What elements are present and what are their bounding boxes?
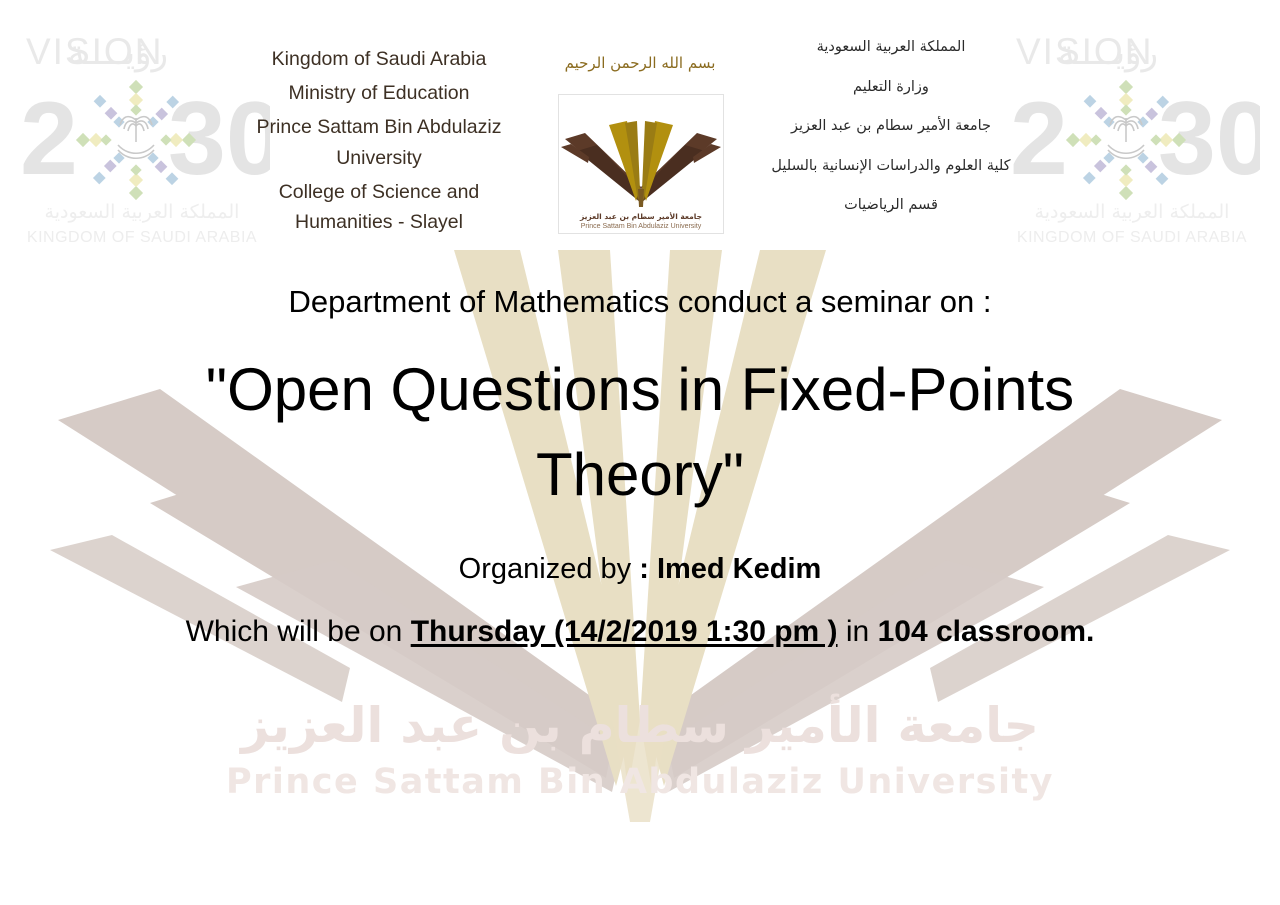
university-logo-card: جامعة الأمير سطام بن عبد العزيز Prince S… [558, 94, 724, 234]
svg-text:Prince Sattam Bin Abdulaziz Un: Prince Sattam Bin Abdulaziz University [581, 223, 702, 230]
header-ar-line-university: جامعة الأمير سطام بن عبد العزيز [760, 119, 1022, 134]
seminar-title: "Open Questions in Fixed-Points Theory" [50, 347, 1230, 517]
letterhead-header: Kingdom of Saudi Arabia Ministry of Educ… [0, 0, 1280, 250]
header-ar-line-kingdom: المملكة العربية السعودية [760, 40, 1022, 55]
seminar-intro-line: Department of Mathematics conduct a semi… [50, 286, 1230, 317]
header-line-ministry: Ministry of Education [246, 78, 512, 108]
header-line-university: Prince Sattam Bin Abdulaziz University [246, 112, 512, 172]
bottom-watermark-english: Prince Sattam Bin Abdulaziz University [0, 763, 1280, 802]
schedule-datetime: Thursday (14/2/2019 1:30 pm ) [411, 615, 838, 648]
header-line-college: College of Science and Humanities - Slay… [246, 177, 512, 237]
header-ar-line-college: كلية العلوم والدراسات الإنسانية بالسليل [760, 159, 1022, 174]
university-logo: بسم الله الرحمن الرحيم [548, 56, 732, 232]
bottom-wordmark-watermark: جامعة الأمير سطام بن عبد العزيز Prince S… [0, 700, 1280, 802]
room-word: classroom. [928, 615, 1095, 648]
basmala-calligraphy: بسم الله الرحمن الرحيم [548, 56, 732, 71]
organizer-name: : Imed Kedim [631, 553, 821, 585]
organizer-label: Organized by [459, 553, 632, 585]
header-ar-line-department: قسم الرياضيات [760, 198, 1022, 213]
header-ar-line-ministry: وزارة التعليم [760, 80, 1022, 95]
room-number: 104 [878, 615, 928, 648]
announcement-body: Department of Mathematics conduct a semi… [50, 258, 1230, 659]
schedule-line: Which will be on Thursday (14/2/2019 1:3… [50, 606, 1230, 659]
schedule-prefix: Which will be on [186, 615, 411, 648]
header-english-block: Kingdom of Saudi Arabia Ministry of Educ… [246, 44, 512, 241]
svg-text:جامعة الأمير سطام بن عبد العزي: جامعة الأمير سطام بن عبد العزيز [579, 212, 702, 221]
organizer-line: Organized by : Imed Kedim [50, 555, 1230, 584]
flyer-page: جامعة الأمير سطام بن عبد العزيز Prince S… [0, 0, 1280, 905]
schedule-middle: in [838, 615, 878, 648]
bottom-watermark-arabic: جامعة الأمير سطام بن عبد العزيز [0, 700, 1280, 751]
header-arabic-block: المملكة العربية السعودية وزارة التعليم ج… [760, 40, 1022, 238]
header-line-kingdom: Kingdom of Saudi Arabia [246, 44, 512, 74]
